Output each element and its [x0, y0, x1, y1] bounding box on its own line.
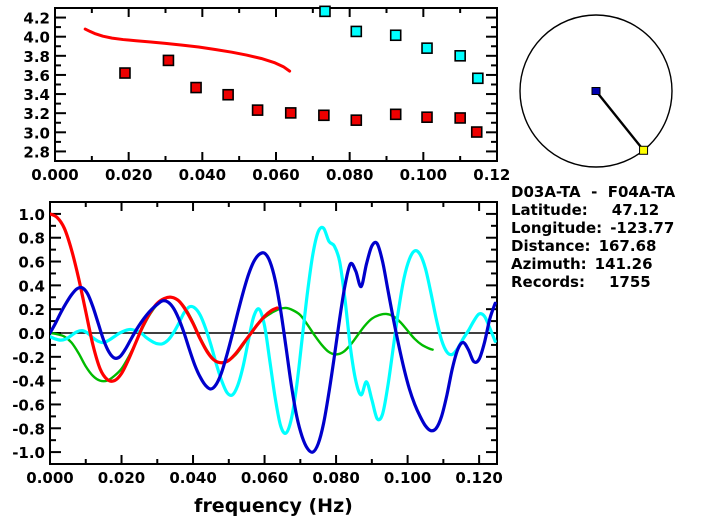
- x-tick-label: 0.000: [26, 469, 73, 487]
- x-tick-label: 0.080: [312, 469, 359, 487]
- y-tick-label: -0.2: [12, 349, 45, 367]
- azimuth-diagram: [505, 4, 702, 180]
- series-cyan-trace: [50, 227, 495, 433]
- data-point: [320, 6, 330, 16]
- data-point: [223, 90, 233, 100]
- series-measured-cyan-squares: [320, 6, 483, 83]
- distance-row: Distance:167.68: [511, 237, 675, 255]
- y-tick-label: 4.0: [23, 29, 50, 47]
- data-point: [391, 30, 401, 40]
- x-tick-label: 0.040: [169, 469, 216, 487]
- data-point: [163, 55, 173, 65]
- x-tick-label: 0.120: [455, 469, 502, 487]
- records-label: Records:: [511, 273, 585, 291]
- top-plot-frame: [55, 8, 497, 161]
- x-tick-label: 0.060: [241, 469, 288, 487]
- cross-correlation-chart: 0.0000.0200.0400.0600.0800.1000.120-1.0-…: [0, 192, 510, 519]
- y-tick-label: 0.6: [18, 254, 45, 272]
- data-point: [455, 113, 465, 123]
- latitude-row: Latitude:47.12: [511, 201, 675, 219]
- longitude-label: Longitude:: [511, 219, 602, 237]
- y-tick-label: -0.6: [12, 396, 45, 414]
- y-tick-label: 4.2: [23, 10, 50, 28]
- data-point: [351, 115, 361, 125]
- y-tick-label: 3.6: [23, 67, 50, 85]
- y-tick-label: 3.0: [23, 124, 50, 142]
- y-tick-label: -0.8: [12, 420, 45, 438]
- y-tick-label: -1.0: [12, 444, 45, 462]
- latitude-value: 47.12: [612, 201, 659, 219]
- data-point: [253, 105, 263, 115]
- azimuth-diagram-svg: [505, 4, 702, 180]
- azimuth-label: Azimuth:: [511, 255, 587, 273]
- center-station-marker: [592, 88, 600, 95]
- data-point: [455, 51, 465, 61]
- x-tick-label: 0.020: [98, 469, 145, 487]
- x-tick-label: 0.100: [400, 166, 447, 184]
- y-tick-label: 3.4: [23, 86, 50, 104]
- x-tick-label: 0.080: [326, 166, 373, 184]
- velocity-dispersion-svg: 0.0000.0200.0400.0600.0800.1000.1202.83.…: [0, 0, 510, 192]
- data-point: [120, 68, 130, 78]
- data-point: [473, 73, 483, 83]
- records-value: 1755: [609, 273, 651, 291]
- azimuth-row: Azimuth:141.26: [511, 255, 675, 273]
- y-tick-label: 0.8: [18, 230, 45, 248]
- x-tick-label: 0.060: [252, 166, 299, 184]
- data-point: [422, 43, 432, 53]
- y-tick-label: 0.4: [18, 277, 45, 295]
- longitude-value: -123.77: [610, 219, 674, 237]
- data-point: [422, 112, 432, 122]
- velocity-dispersion-chart: 0.0000.0200.0400.0600.0800.1000.1202.83.…: [0, 0, 510, 192]
- data-point: [391, 109, 401, 119]
- y-tick-label: 3.2: [23, 105, 50, 123]
- y-tick-label: 0.2: [18, 301, 45, 319]
- y-tick-label: 1.0: [18, 206, 45, 224]
- station-pair-title: D03A-TA - F04A-TA: [511, 183, 675, 201]
- data-point: [286, 108, 296, 118]
- data-point: [191, 83, 201, 93]
- remote-station-marker: [640, 146, 648, 154]
- distance-label: Distance:: [511, 237, 591, 255]
- cross-correlation-svg: 0.0000.0200.0400.0600.0800.1000.120-1.0-…: [0, 192, 510, 519]
- data-point: [351, 26, 361, 36]
- series-measured-red-squares: [120, 55, 482, 137]
- y-tick-label: 0.0: [18, 325, 45, 343]
- azimuth-ray: [596, 91, 644, 150]
- data-point: [472, 127, 482, 137]
- x-tick-label: 0.020: [105, 166, 152, 184]
- longitude-row: Longitude:-123.77: [511, 219, 675, 237]
- x-tick-label: 0.100: [384, 469, 431, 487]
- data-point: [319, 110, 329, 120]
- series-reference-curve: [85, 29, 289, 71]
- station-info-panel: D03A-TA - F04A-TA Latitude:47.12 Longitu…: [511, 183, 675, 291]
- distance-value: 167.68: [599, 237, 657, 255]
- x-tick-label: 0.040: [179, 166, 226, 184]
- latitude-label: Latitude:: [511, 201, 588, 219]
- y-tick-label: -0.4: [12, 373, 45, 391]
- y-tick-label: 2.8: [23, 143, 50, 161]
- x-axis-title: frequency (Hz): [194, 495, 353, 517]
- azimuth-value: 141.26: [595, 255, 653, 273]
- records-row: Records:1755: [511, 273, 675, 291]
- x-tick-label: 0.000: [31, 166, 78, 184]
- y-tick-label: 3.8: [23, 48, 50, 66]
